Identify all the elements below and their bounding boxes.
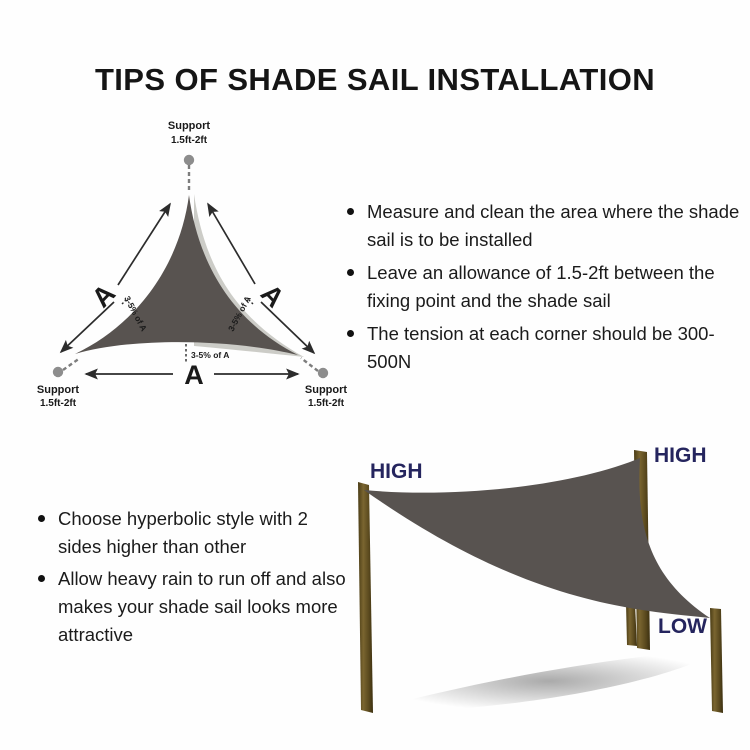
side-left-length-label: A bbox=[86, 278, 121, 313]
support-line-left bbox=[63, 358, 80, 370]
support-top-label: Support bbox=[168, 120, 210, 132]
infographic-page: TIPS OF SHADE SAIL INSTALLATION Support … bbox=[0, 0, 750, 750]
post-middle bbox=[626, 603, 637, 646]
hyperbolic-style-list: Choose hyperbolic style with 2 sides hig… bbox=[36, 505, 346, 653]
dimension-arrow-left-upper bbox=[118, 204, 170, 285]
post-back-left bbox=[358, 482, 373, 713]
support-line-right bbox=[301, 358, 318, 371]
support-right-label: Support bbox=[305, 384, 347, 396]
support-left-label: Support bbox=[37, 384, 79, 396]
list-item: Measure and clean the area where the sha… bbox=[345, 198, 745, 254]
corner-label-high-right: HIGH bbox=[654, 444, 707, 467]
side-bottom-curve-label: 3-5% of A bbox=[191, 350, 229, 360]
corner-label-high-left: HIGH bbox=[370, 460, 423, 483]
list-item: Allow heavy rain to run off and also mak… bbox=[36, 565, 346, 649]
side-bottom-length-label: A bbox=[184, 360, 204, 390]
list-item: The tension at each corner should be 300… bbox=[345, 320, 745, 376]
page-title: TIPS OF SHADE SAIL INSTALLATION bbox=[0, 62, 750, 98]
support-left-distance: 1.5ft-2ft bbox=[40, 398, 77, 409]
support-top-distance: 1.5ft-2ft bbox=[171, 135, 208, 146]
hyperbolic-shade-sail-diagram: HIGH HIGH LOW bbox=[338, 428, 750, 728]
ground-shadow bbox=[378, 650, 720, 712]
support-dot-top bbox=[184, 155, 194, 165]
support-right-distance: 1.5ft-2ft bbox=[308, 398, 345, 409]
support-dot-right bbox=[318, 368, 328, 378]
triangle-shade-sail-diagram: Support 1.5ft-2ft Support 1.5ft-2ft Supp… bbox=[18, 112, 358, 412]
list-item: Choose hyperbolic style with 2 sides hig… bbox=[36, 505, 346, 561]
side-right-length-label: A bbox=[255, 278, 290, 313]
corner-label-low: LOW bbox=[658, 615, 707, 638]
list-item: Leave an allowance of 1.5-2ft between th… bbox=[345, 259, 745, 315]
post-right-low bbox=[710, 608, 723, 713]
support-dot-left bbox=[53, 367, 63, 377]
installation-tips-list: Measure and clean the area where the sha… bbox=[345, 198, 745, 381]
